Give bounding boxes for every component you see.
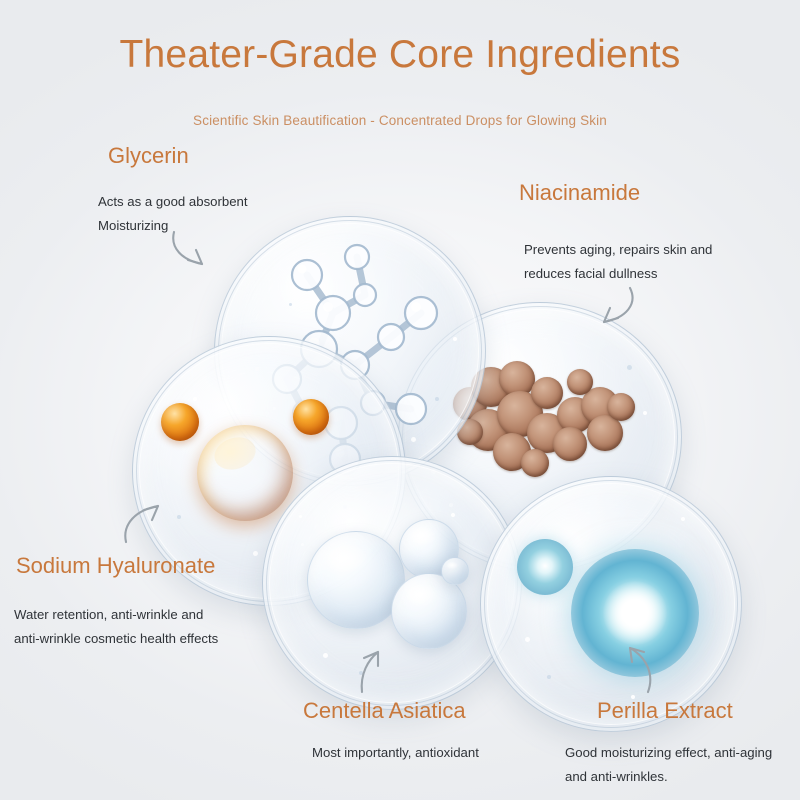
ingredient-description-sodium-hyaluronate: Water retention, anti-wrinkle and anti-w… [14, 603, 218, 650]
curved-arrow-down-left-icon [586, 284, 642, 336]
desc-line: and anti-wrinkles. [565, 765, 772, 789]
ingredient-name-glycerin: Glycerin [108, 143, 189, 169]
desc-line: Acts as a good absorbent [98, 190, 248, 214]
glow-core-small [517, 539, 573, 595]
ingredient-name-perilla-extract: Perilla Extract [597, 698, 733, 724]
desc-line: Most importantly, antioxidant [312, 741, 479, 765]
page-title: Theater-Grade Core Ingredients [0, 34, 800, 77]
ingredient-infographic: Theater-Grade Core Ingredients Scientifi… [0, 0, 800, 800]
petri-dish-perilla-extract [480, 476, 742, 732]
desc-line: Good moisturizing effect, anti-aging [565, 741, 772, 765]
amber-droplet-large [197, 425, 293, 521]
curved-arrow-up-icon [352, 646, 398, 698]
gel-bubble-tiny [441, 557, 469, 585]
ingredient-description-perilla-extract: Good moisturizing effect, anti-aging and… [565, 741, 772, 788]
amber-droplet-small-right [293, 399, 329, 435]
amber-droplet-small-left [161, 403, 199, 441]
ingredient-description-centella-asiatica: Most importantly, antioxidant [312, 741, 479, 765]
page-subtitle: Scientific Skin Beautification - Concent… [0, 113, 800, 128]
desc-line: Prevents aging, repairs skin and [524, 238, 712, 262]
curved-arrow-down-right-icon [168, 226, 224, 278]
desc-line: reduces facial dullness [524, 262, 712, 286]
ingredient-name-sodium-hyaluronate: Sodium Hyaluronate [16, 553, 215, 579]
ingredient-name-niacinamide: Niacinamide [519, 180, 640, 206]
ingredient-name-centella-asiatica: Centella Asiatica [303, 698, 466, 724]
ingredient-description-niacinamide: Prevents aging, repairs skin and reduces… [524, 238, 712, 285]
curved-arrow-up-left-icon [618, 642, 666, 698]
desc-line: Water retention, anti-wrinkle and [14, 603, 218, 627]
curved-arrow-up-right-icon [120, 498, 176, 550]
desc-line: anti-wrinkle cosmetic health effects [14, 627, 218, 651]
